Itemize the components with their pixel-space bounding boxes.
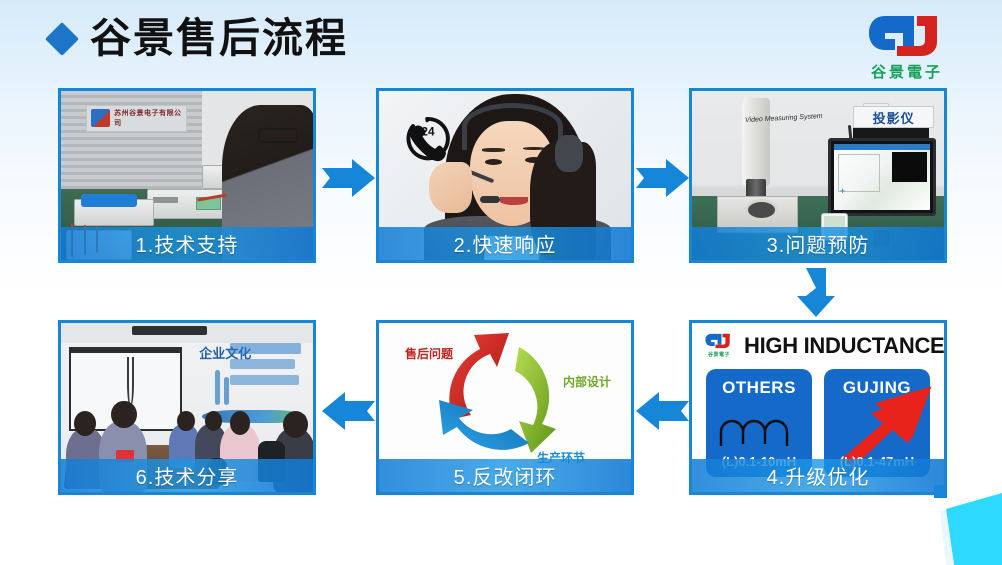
measuring-column — [742, 98, 770, 186]
flow-step-6-caption: 6.技术分享 — [61, 459, 313, 492]
projector-label: 投影仪 — [853, 106, 934, 128]
flow-step-3-caption: 3.问题预防 — [692, 227, 944, 260]
connector-5-6 — [322, 390, 376, 432]
flow-step-3-card[interactable]: Video Measuring System 投影仪 + 3.问题预防 — [689, 88, 947, 263]
flow-step-2-card[interactable]: 24 2.快速响应 — [376, 88, 634, 263]
arrow-left-icon — [322, 390, 376, 432]
arrow-right-icon — [636, 157, 690, 199]
others-panel-title: OTHERS — [722, 378, 796, 398]
gj-monogram-icon-small: 谷景電子 — [704, 331, 734, 361]
arrow-left-icon — [636, 390, 690, 432]
flow-step-4-card[interactable]: 谷景電子 HIGH INDUCTANCE! OTHERS (L)0.1-10mH… — [689, 320, 947, 495]
cycle-label-red: 售后问题 — [405, 345, 453, 362]
wall-company-sign: 苏州谷景电子有限公司 — [86, 105, 187, 132]
high-inductance-heading: HIGH INDUCTANCE! — [744, 333, 947, 359]
connector-1-2 — [322, 157, 376, 199]
company-logo: 谷景電子 — [852, 12, 962, 84]
flow-step-2-caption: 2.快速响应 — [379, 227, 631, 260]
cycle-label-green: 内部设计 — [563, 373, 611, 390]
cyan-corner-shape — [934, 485, 1002, 565]
gj-monogram-icon — [865, 12, 949, 60]
logo-company-text: 谷景電子 — [871, 61, 943, 82]
arrow-down-icon — [795, 268, 837, 318]
inductor-coil-icon — [716, 414, 802, 448]
flow-step-6-card[interactable]: 企业文化 6.技术分享 — [58, 320, 316, 495]
flow-step-5-caption: 5.反改闭环 — [379, 459, 631, 492]
connector-4-5 — [636, 390, 690, 432]
flow-step-1-card[interactable]: 苏州谷景电子有限公司 1.技术支持 — [58, 88, 316, 263]
24-hour-phone-icon: 24 — [402, 115, 452, 162]
svg-text:24: 24 — [421, 124, 435, 138]
diamond-icon — [45, 22, 79, 56]
arrow-right-icon — [322, 157, 376, 199]
flow-step-5-card[interactable]: 售后问题 内部设计 生产环节 5.反改闭环 — [376, 320, 634, 495]
page-title: 谷景售后流程 — [90, 18, 348, 59]
slide-canvas: 谷景售后流程 谷景電子 苏州谷景电子有限公司 — [0, 0, 1002, 565]
slide-header: 谷景售后流程 — [50, 18, 348, 59]
logo-company-text-small: 谷景電子 — [708, 351, 730, 358]
flow-step-4-caption: 4.升级优化 — [692, 459, 944, 492]
connector-3-4 — [795, 268, 837, 318]
connector-2-3 — [636, 157, 690, 199]
flow-step-1-caption: 1.技术支持 — [61, 227, 313, 260]
